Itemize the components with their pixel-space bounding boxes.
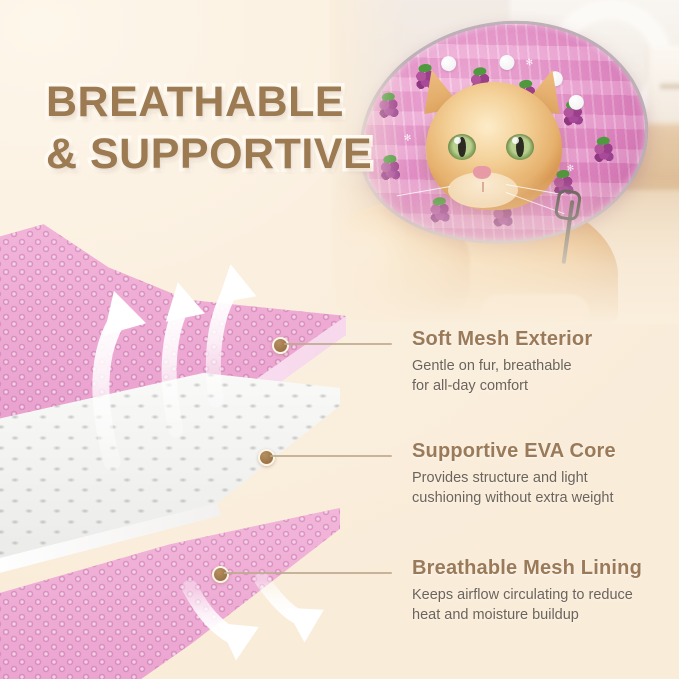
material-layer-diagram bbox=[0, 208, 346, 679]
callout-description: Keeps airflow circulating to reduce heat… bbox=[412, 585, 642, 625]
headline-line-1: BREATHABLE bbox=[46, 78, 372, 126]
callout-description: Gentle on fur, breathable for all-day co… bbox=[412, 356, 592, 396]
callout-title: Breathable Mesh Lining bbox=[412, 557, 642, 580]
callout-leader-3 bbox=[224, 572, 392, 574]
callout-supportive-eva-core: Supportive EVA Core Provides structure a… bbox=[412, 440, 616, 508]
callout-title: Soft Mesh Exterior bbox=[412, 328, 592, 351]
callout-desc-line-1: Keeps airflow circulating to reduce bbox=[412, 585, 642, 605]
callout-dot-1 bbox=[272, 337, 289, 354]
callout-dot-3 bbox=[212, 566, 229, 583]
callout-desc-line-2: heat and moisture buildup bbox=[412, 605, 642, 625]
headline-line-2: & SUPPORTIVE bbox=[46, 130, 372, 178]
product-photo: ✻ ✻ ✻ ✻ bbox=[330, 0, 679, 324]
callout-desc-line-2: for all-day comfort bbox=[412, 376, 592, 396]
callout-leader-1 bbox=[284, 343, 392, 345]
photo-fade-overlay bbox=[330, 0, 679, 324]
callout-desc-line-1: Gentle on fur, breathable bbox=[412, 356, 592, 376]
callout-desc-line-1: Provides structure and light bbox=[412, 468, 616, 488]
callout-description: Provides structure and light cushioning … bbox=[412, 468, 616, 508]
callout-title: Supportive EVA Core bbox=[412, 440, 616, 463]
callout-breathable-mesh-lining: Breathable Mesh Lining Keeps airflow cir… bbox=[412, 557, 642, 625]
callout-desc-line-2: cushioning without extra weight bbox=[412, 488, 616, 508]
callout-soft-mesh-exterior: Soft Mesh Exterior Gentle on fur, breath… bbox=[412, 328, 592, 396]
callout-dot-2 bbox=[258, 449, 275, 466]
infographic-canvas: ✻ ✻ ✻ ✻ BREATHABLE & SUPPORTIV bbox=[0, 0, 679, 679]
callout-leader-2 bbox=[270, 455, 392, 457]
page-title: BREATHABLE & SUPPORTIVE bbox=[46, 78, 372, 178]
